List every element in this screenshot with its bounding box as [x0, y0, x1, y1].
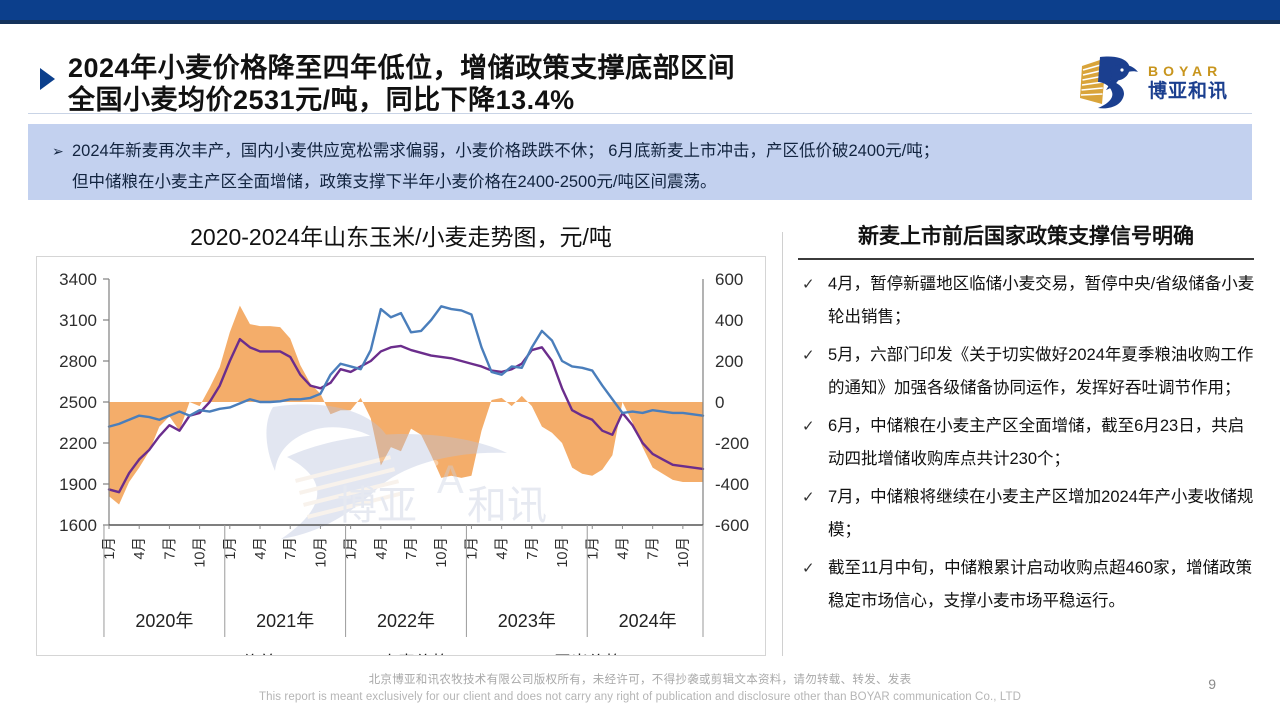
boyar-bird-icon: [1076, 52, 1144, 112]
x-tick-label: 10月: [313, 537, 329, 568]
footer-copyright-cn: 北京博亚和讯农牧技术有限公司版权所有，未经许可，不得抄袭或剪辑文本资料，请勿转载…: [0, 672, 1280, 689]
policy-bullet-text: 5月，六部门印发《关于切实做好2024年夏季粮油收购工作的通知》加强各级储备协同…: [828, 339, 1260, 405]
y-tick-label: 2200: [59, 434, 97, 453]
y2-tick-label: -400: [715, 475, 749, 494]
policy-bullet-item: ✓6月，中储粮在小麦主产区全面增储，截至6月23日，共启动四批增储收购库点共计2…: [798, 410, 1260, 476]
y-tick-label: 1600: [59, 516, 97, 535]
year-group-label: 2021年: [256, 611, 314, 631]
y2-tick-label: 0: [715, 393, 724, 412]
y2-tick-label: 400: [715, 311, 743, 330]
price-trend-chart: A博亚和讯1600190022002500280031003400-600-40…: [37, 257, 765, 655]
policy-bullet-item: ✓5月，六部门印发《关于切实做好2024年夏季粮油收购工作的通知》加强各级储备协…: [798, 339, 1260, 405]
x-tick-label: 7月: [283, 537, 299, 560]
summary-callout: ➢ 2024年新麦再次丰产，国内小麦供应宽松需求偏弱，小麦价格跌跌不休； 6月底…: [28, 124, 1252, 200]
y-tick-label: 3400: [59, 270, 97, 289]
x-tick-label: 7月: [525, 537, 541, 560]
spread-area: [109, 306, 703, 505]
svg-text:A: A: [437, 458, 464, 502]
callout-line-1: ➢ 2024年新麦再次丰产，国内小麦供应宽松需求偏弱，小麦价格跌跌不休； 6月底…: [52, 136, 1236, 167]
policy-bullet-item: ✓7月，中储粮将继续在小麦主产区增加2024年产小麦收储规模；: [798, 481, 1260, 547]
legend-label: 小麦价格: [381, 653, 449, 655]
year-group-label: 2023年: [498, 611, 556, 631]
boyar-logo-cn: 博亚和讯: [1148, 81, 1228, 103]
chart-container: A博亚和讯1600190022002500280031003400-600-40…: [36, 256, 766, 656]
legend-label: 价差: [242, 653, 276, 655]
y-tick-label: 2500: [59, 393, 97, 412]
chart-title: 2020-2024年山东玉米/小麦走势图，元/吨: [36, 222, 766, 252]
x-tick-label: 10月: [555, 537, 571, 568]
footer-copyright-en: This report is meant exclusively for our…: [0, 689, 1280, 706]
policy-bullet-text: 4月，暂停新疆地区临储小麦交易，暂停中央/省级储备小麦轮出销售；: [828, 268, 1260, 334]
policy-bullet-item: ✓4月，暂停新疆地区临储小麦交易，暂停中央/省级储备小麦轮出销售；: [798, 268, 1260, 334]
year-group-label: 2022年: [377, 611, 435, 631]
x-tick-label: 4月: [615, 537, 631, 560]
policy-bullet-text: 7月，中储粮将继续在小麦主产区增加2024年产小麦收储规模；: [828, 481, 1260, 547]
check-icon: ✓: [798, 268, 828, 301]
x-tick-label: 7月: [162, 537, 178, 560]
top-accent-bar: [0, 0, 1280, 20]
x-tick-label: 10月: [676, 537, 692, 568]
y2-tick-label: 200: [715, 352, 743, 371]
callout-line-2: 但中储粮在小麦主产区全面增储，政策支撑下半年小麦价格在2400-2500元/吨区…: [52, 167, 1236, 198]
svg-text:和讯: 和讯: [467, 484, 547, 528]
y-tick-label: 2800: [59, 352, 97, 371]
check-icon: ✓: [798, 481, 828, 514]
x-tick-label: 10月: [434, 537, 450, 568]
check-icon: ✓: [798, 552, 828, 585]
page-title-line1: 2024年小麦价格降至四年低位，增储政策支撑底部区间: [68, 52, 735, 84]
chart-legend: 价差小麦价格玉米价格: [205, 653, 622, 655]
year-group-label: 2024年: [619, 611, 677, 631]
x-tick-label: 10月: [193, 537, 209, 568]
callout-text-1: 2024年新麦再次丰产，国内小麦供应宽松需求偏弱，小麦价格跌跌不休； 6月底新麦…: [72, 136, 939, 167]
x-tick-label: 4月: [253, 537, 269, 560]
page-title: 2024年小麦价格降至四年低位，增储政策支撑底部区间 全国小麦均价2531元/吨…: [68, 52, 735, 116]
panel-divider: [782, 232, 783, 656]
y2-tick-label: -200: [715, 434, 749, 453]
slide-header: 2024年小麦价格降至四年低位，增储政策支撑底部区间 全国小麦均价2531元/吨…: [0, 24, 1280, 108]
policy-bullet-text: 截至11月中旬，中储粮累计启动收购点超460家，增储政策稳定市场信心，支撑小麦市…: [828, 552, 1260, 618]
policy-panel-rule: [798, 258, 1254, 260]
policy-panel-title: 新麦上市前后国家政策支撑信号明确: [800, 222, 1252, 252]
y2-tick-label: 600: [715, 270, 743, 289]
policy-bullet-text: 6月，中储粮在小麦主产区全面增储，截至6月23日，共启动四批增储收购库点共计23…: [828, 410, 1260, 476]
footer: 北京博亚和讯农牧技术有限公司版权所有，未经许可，不得抄袭或剪辑文本资料，请勿转载…: [0, 672, 1280, 706]
callout-text-2: 但中储粮在小麦主产区全面增储，政策支撑下半年小麦价格在2400-2500元/吨区…: [72, 167, 717, 198]
policy-bullet-item: ✓截至11月中旬，中储粮累计启动收购点超460家，增储政策稳定市场信心，支撑小麦…: [798, 552, 1260, 618]
y2-tick-label: -600: [715, 516, 749, 535]
svg-text:博亚: 博亚: [337, 484, 417, 528]
check-icon: ✓: [798, 339, 828, 372]
boyar-logo: BOYAR 博亚和讯: [1076, 52, 1248, 114]
check-icon: ✓: [798, 410, 828, 443]
policy-bullet-list: ✓4月，暂停新疆地区临储小麦交易，暂停中央/省级储备小麦轮出销售；✓5月，六部门…: [798, 268, 1260, 623]
x-tick-label: 7月: [404, 537, 420, 560]
page-title-line2: 全国小麦均价2531元/吨，同比下降13.4%: [68, 84, 735, 116]
slide: 2024年小麦价格降至四年低位，增储政策支撑底部区间 全国小麦均价2531元/吨…: [0, 0, 1280, 720]
x-tick-label: 7月: [646, 537, 662, 560]
x-tick-label: 4月: [374, 537, 390, 560]
triangle-bullet-icon: [40, 68, 55, 90]
arrow-bullet-icon: ➢: [52, 136, 72, 167]
header-divider: [28, 113, 1252, 114]
page-number: 9: [1208, 676, 1216, 692]
year-group-label: 2020年: [135, 611, 193, 631]
legend-label: 玉米价格: [554, 653, 622, 655]
y-tick-label: 1900: [59, 475, 97, 494]
boyar-logo-en: BOYAR: [1148, 63, 1228, 79]
x-tick-label: 4月: [132, 537, 148, 560]
boyar-logo-text: BOYAR 博亚和讯: [1148, 63, 1228, 103]
x-tick-label: 4月: [495, 537, 511, 560]
y-tick-label: 3100: [59, 311, 97, 330]
